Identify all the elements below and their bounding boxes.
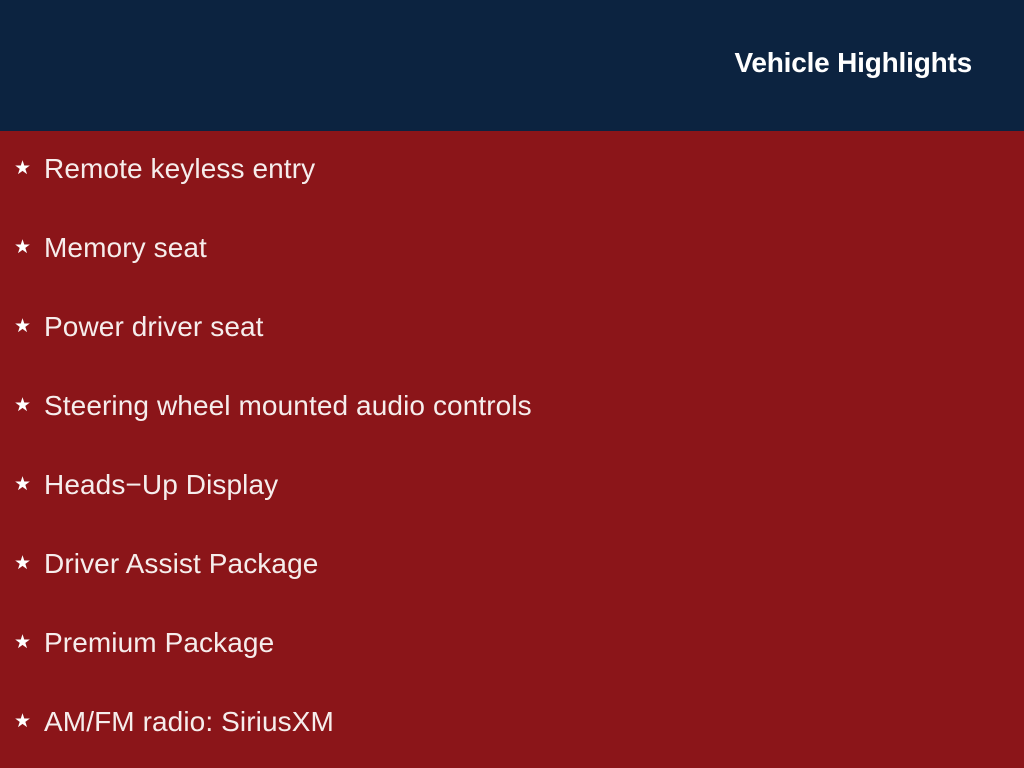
list-item: ★ Memory seat [14,231,1014,265]
list-item-label: Power driver seat [44,310,264,344]
star-bullet-icon: ★ [14,152,44,186]
list-item: ★ AM/FM radio: SiriusXM [14,705,1014,739]
highlights-panel: ★ Remote keyless entry ★ Memory seat ★ P… [0,131,1024,768]
list-item: ★ Steering wheel mounted audio controls [14,389,1014,423]
star-bullet-icon: ★ [14,389,44,423]
list-item: ★ Driver Assist Package [14,547,1014,581]
vehicle-highlights-slide: Vehicle Highlights ★ Remote keyless entr… [0,0,1024,768]
page-title: Vehicle Highlights [734,46,972,80]
list-item-label: Remote keyless entry [44,152,315,186]
star-bullet-icon: ★ [14,626,44,660]
list-item-label: Heads−Up Display [44,468,278,502]
star-bullet-icon: ★ [14,468,44,502]
list-item-label: Steering wheel mounted audio controls [44,389,532,423]
star-bullet-icon: ★ [14,231,44,265]
list-item-label: Driver Assist Package [44,547,318,581]
star-bullet-icon: ★ [14,547,44,581]
list-item: ★ Remote keyless entry [14,152,1014,186]
list-item: ★ Premium Package [14,626,1014,660]
list-item-label: Premium Package [44,626,274,660]
star-bullet-icon: ★ [14,310,44,344]
list-item-label: Memory seat [44,231,207,265]
list-item: ★ Power driver seat [14,310,1014,344]
list-item: ★ Heads−Up Display [14,468,1014,502]
slide-header-band: Vehicle Highlights [0,0,1024,131]
list-item-label: AM/FM radio: SiriusXM [44,705,334,739]
star-bullet-icon: ★ [14,705,44,739]
